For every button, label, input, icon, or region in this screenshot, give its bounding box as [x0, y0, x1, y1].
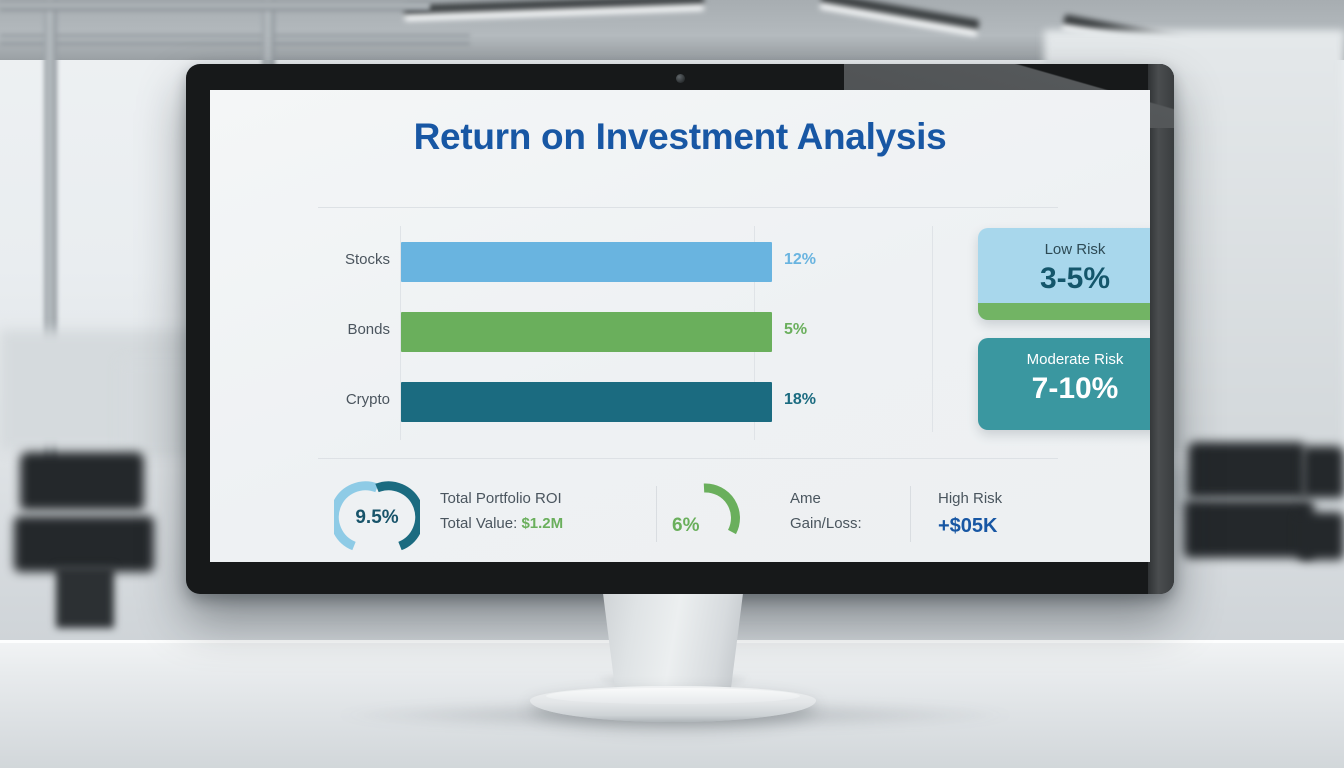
bar-value: 5%	[784, 321, 807, 339]
bar-row[interactable]: Stocks 12%	[318, 242, 958, 282]
office-chair-3-seat	[1298, 512, 1344, 560]
monitor-frame: Return on Investment Analysis Stocks 12%…	[186, 64, 1174, 594]
gain-stat-line1: Ame	[790, 490, 862, 507]
bar-row[interactable]: Bonds 5%	[318, 312, 958, 352]
chart-section-divider	[932, 226, 933, 432]
roi-dashboard: Return on Investment Analysis Stocks 12%…	[210, 90, 1150, 562]
stats-divider-2	[910, 486, 911, 542]
roi-stat-line1: Total Portfolio ROI	[440, 490, 563, 507]
bar-value: 12%	[784, 251, 816, 269]
office-chair-1-back	[20, 452, 144, 510]
bar-track	[401, 312, 772, 352]
bar-track	[401, 242, 772, 282]
high-risk-label: High Risk	[938, 490, 1002, 507]
stat-block-high-risk[interactable]: High Risk +$05K	[938, 472, 1108, 558]
bar-label: Crypto	[318, 391, 390, 408]
risk-card-value: 7-10%	[978, 372, 1150, 406]
risk-card-accent-strip	[978, 303, 1150, 320]
monitor-screen: Return on Investment Analysis Stocks 12%…	[210, 90, 1150, 562]
risk-card-label: Moderate Risk	[978, 351, 1150, 368]
page-title: Return on Investment Analysis	[210, 116, 1150, 158]
gain-stat-line2: Gain/Loss:	[790, 515, 862, 532]
stat-block-portfolio-roi[interactable]: 9.5% Total Portfolio ROI Total Value: $1…	[318, 472, 648, 558]
bar-fill	[401, 242, 772, 282]
office-chair-1-seat	[14, 516, 154, 572]
office-chair-2-seat	[1184, 500, 1314, 558]
office-chair-1-base	[56, 566, 114, 628]
stat-block-gain-loss[interactable]: 6% Ame Gain/Loss:	[670, 472, 902, 558]
bar-track	[401, 382, 772, 422]
bar-fill	[401, 312, 772, 352]
window-frame-horizontal-2	[0, 0, 430, 11]
bar-value: 18%	[784, 391, 816, 409]
risk-card-label: Low Risk	[978, 241, 1150, 258]
divider-top	[318, 207, 1058, 208]
high-risk-stat-text: High Risk +$05K	[938, 490, 1002, 538]
roi-total-value-label: Total Value:	[440, 515, 517, 532]
risk-card-moderate[interactable]: Moderate Risk 7-10%	[978, 338, 1150, 430]
gain-gauge-value: 6%	[670, 476, 756, 554]
bar-label: Stocks	[318, 251, 390, 268]
roi-gauge: 9.5%	[334, 476, 420, 554]
bezel-right-edge	[1148, 64, 1174, 594]
gain-gauge: 6%	[670, 476, 756, 554]
monitor-stand-neck	[597, 594, 749, 690]
stats-divider-1	[656, 486, 657, 542]
high-risk-value: +$05K	[938, 515, 1002, 538]
bar-fill	[401, 382, 772, 422]
monitor-stand-base-highlight	[546, 688, 800, 704]
office-chair-3-back	[1302, 446, 1344, 498]
risk-card-value: 3-5%	[978, 262, 1150, 296]
bar-row[interactable]: Crypto 18%	[318, 382, 958, 422]
webcam-icon	[676, 74, 685, 83]
office-chair-2-back	[1188, 442, 1306, 498]
risk-card-low[interactable]: Low Risk 3-5%	[978, 228, 1150, 320]
bar-label: Bonds	[318, 321, 390, 338]
window-frame-horizontal	[0, 34, 470, 45]
roi-total-value: $1.2M	[521, 515, 563, 532]
roi-stat-text: Total Portfolio ROI Total Value: $1.2M	[440, 490, 563, 532]
roi-stat-line2: Total Value: $1.2M	[440, 515, 563, 532]
bar-chart: Stocks 12% Bonds 5% Crypto	[318, 220, 958, 446]
stats-row: 9.5% Total Portfolio ROI Total Value: $1…	[318, 472, 1108, 558]
roi-gauge-value: 9.5%	[334, 476, 420, 554]
divider-bottom	[318, 458, 1058, 459]
gain-stat-text: Ame Gain/Loss:	[790, 490, 862, 532]
